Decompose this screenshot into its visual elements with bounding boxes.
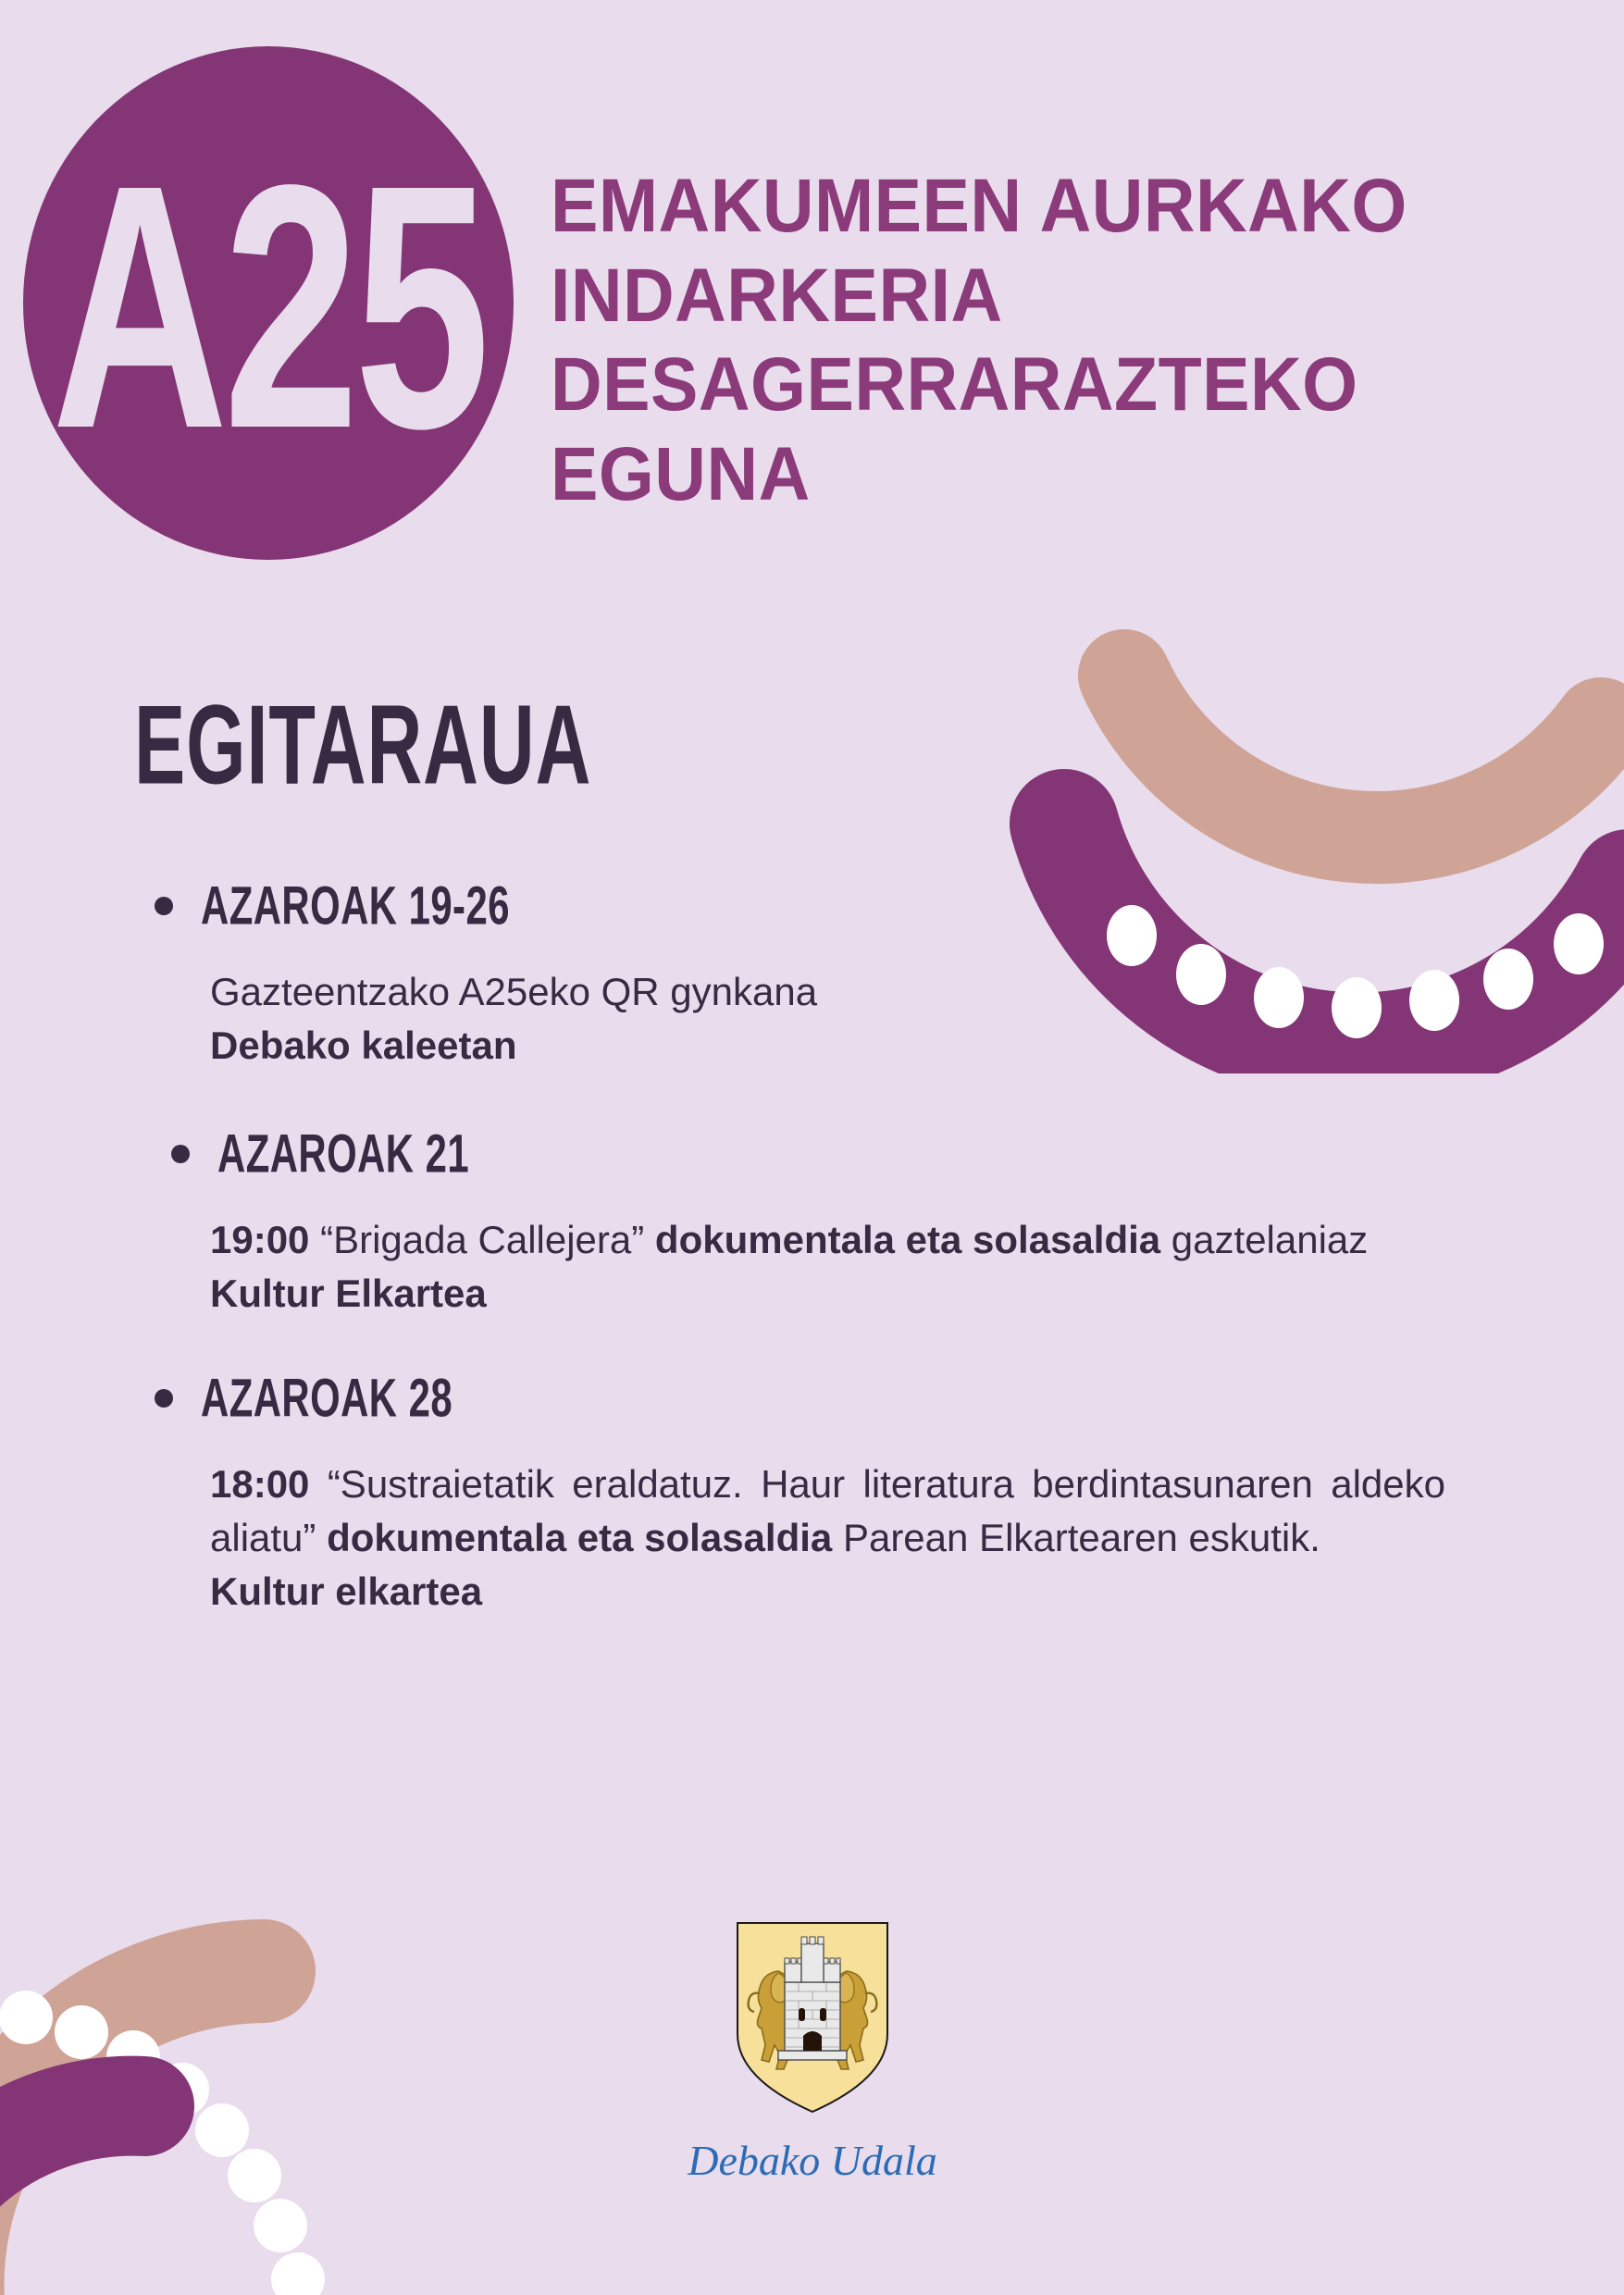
event-description-bold: dokumentala eta solasaldia bbox=[655, 1218, 1160, 1261]
programme-section: EGITARAUA AZAROAK 19-26 Gazteentzako A25… bbox=[134, 689, 1522, 1672]
poster-header: A25 EMAKUMEEN AURKAKO INDARKERIA DESAGER… bbox=[23, 37, 1596, 555]
programme-heading: EGITARAUA bbox=[134, 689, 1411, 802]
event-item: AZAROAK 19-26 Gazteentzako A25eko QR gyn… bbox=[134, 882, 1522, 1073]
event-date: AZAROAK 19-26 bbox=[201, 875, 510, 937]
bullet-icon bbox=[171, 1145, 190, 1163]
event-time: 19:00 bbox=[210, 1218, 309, 1261]
title-line-2: INDARKERIA bbox=[551, 252, 1525, 341]
title-line-4: EGUNA bbox=[551, 430, 1525, 520]
event-description-tail: Parean Elkartearen eskutik. bbox=[832, 1516, 1320, 1559]
event-body: 19:00 “Brigada Callejera” dokumentala et… bbox=[210, 1213, 1445, 1321]
event-body: 18:00 “Sustraietatik eraldatuz. Haur lit… bbox=[210, 1458, 1445, 1619]
event-description: Gazteentzako A25eko QR gynkana bbox=[210, 970, 817, 1013]
title-line-1: EMAKUMEEN AURKAKO bbox=[551, 162, 1525, 252]
event-date-row: AZAROAK 21 bbox=[171, 1130, 1522, 1178]
event-description-tail: gaztelaniaz bbox=[1160, 1218, 1368, 1261]
bullet-icon bbox=[155, 897, 173, 915]
event-item: AZAROAK 21 19:00 “Brigada Callejera” dok… bbox=[134, 1130, 1522, 1321]
arc-dot bbox=[254, 2199, 307, 2252]
event-date: AZAROAK 28 bbox=[201, 1367, 452, 1430]
event-body: Gazteentzako A25eko QR gynkana Debako ka… bbox=[210, 965, 1522, 1073]
arc-dot bbox=[271, 2252, 325, 2295]
event-venue: Kultur Elkartea bbox=[210, 1267, 1445, 1321]
bullet-icon bbox=[155, 1389, 173, 1408]
poster-canvas: A25 EMAKUMEEN AURKAKO INDARKERIA DESAGER… bbox=[0, 0, 1624, 2295]
a25-badge-label: A25 bbox=[52, 164, 485, 449]
event-description-bold: dokumentala eta solasaldia bbox=[327, 1516, 832, 1559]
poster-footer: Debako Udala bbox=[0, 1916, 1624, 2191]
wordmark-text: Debako Udala bbox=[687, 2137, 937, 2184]
debako-udala-crest-icon bbox=[725, 1916, 900, 2119]
event-description: “Brigada Callejera” bbox=[320, 1218, 655, 1261]
debako-udala-wordmark: Debako Udala bbox=[641, 2125, 984, 2191]
title-line-3: DESAGERRARAZTEKO bbox=[551, 341, 1525, 430]
event-venue: Kultur elkartea bbox=[210, 1565, 1445, 1619]
event-venue: Debako kaleetan bbox=[210, 1019, 1522, 1073]
event-item: AZAROAK 28 18:00 “Sustraietatik eraldatu… bbox=[134, 1374, 1522, 1619]
event-date: AZAROAK 21 bbox=[217, 1123, 469, 1185]
arc-dot bbox=[1554, 913, 1604, 974]
page-title: EMAKUMEEN AURKAKO INDARKERIA DESAGERRARA… bbox=[551, 162, 1525, 520]
a25-badge: A25 bbox=[23, 46, 514, 560]
event-date-row: AZAROAK 28 bbox=[155, 1374, 1522, 1422]
event-time: 18:00 bbox=[210, 1462, 309, 1506]
event-date-row: AZAROAK 19-26 bbox=[155, 882, 1522, 930]
